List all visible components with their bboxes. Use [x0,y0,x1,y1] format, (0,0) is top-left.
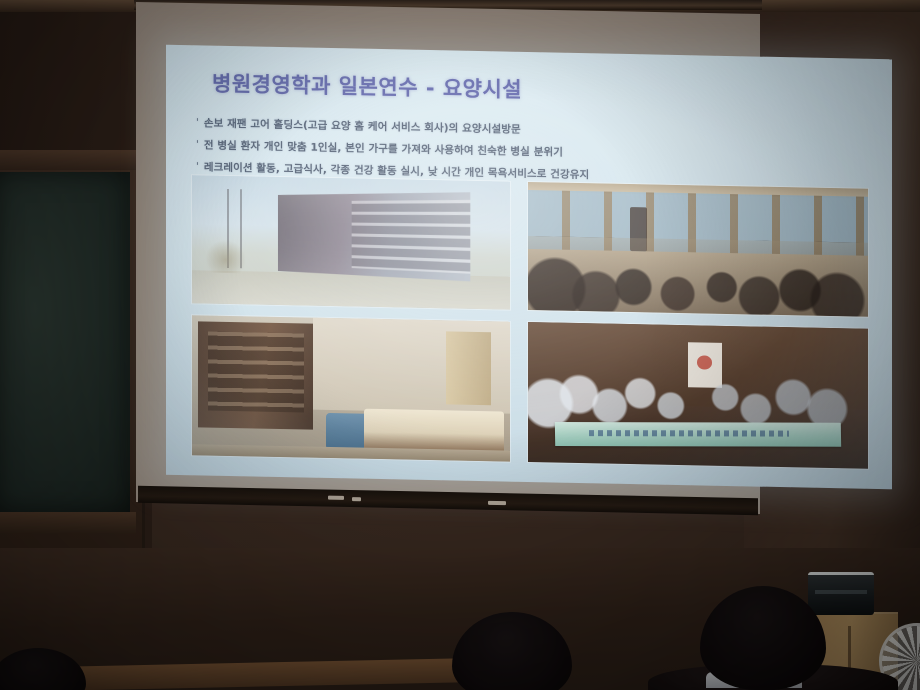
photo-building-exterior [192,175,510,309]
bullet-text: 전 병실 환자 개인 맞춤 1인실, 본인 가구를 가져와 사용하여 친숙한 병… [204,140,563,159]
chalk-piece [352,497,361,501]
chalk-piece [328,496,344,500]
seated-crowd [528,236,868,317]
chalkboard-surface [0,172,130,512]
photo-patient-room [192,315,510,461]
chalkboard-ledge [0,512,136,534]
chalkboard-top-rail [0,150,136,170]
slide-photo-grid [192,175,868,469]
lecture-hall-photo: 병원경영학과 일본연수 - 요양시설 ' 손보 재팬 고어 홀딩스(고급 요양 … [0,0,920,690]
photo-dining-hall [528,182,868,317]
patient-bed [364,408,504,453]
projection-screen: 병원경영학과 일본연수 - 요양시설 ' 손보 재팬 고어 홀딩스(고급 요양 … [128,0,768,540]
slide-bullet-2: ' 전 병실 환자 개인 맞춤 1인실, 본인 가구를 가져와 사용하여 친숙한… [196,139,856,164]
bullet-marker: ' [196,161,199,172]
wooden-shelf [198,321,312,430]
chalk-piece [488,501,506,505]
chalkboard [0,150,145,550]
bullet-marker: ' [196,117,199,128]
slide-bullet-1: ' 손보 재팬 고어 홀딩스(고급 요양 홈 케어 서비스 회사)의 요양시설방… [196,117,856,142]
tree [205,240,246,274]
bullet-marker: ' [196,139,199,150]
building-block [278,193,471,282]
window-curtain [446,332,491,406]
projected-slide: 병원경영학과 일본연수 - 요양시설 ' 손보 재팬 고어 홀딩스(고급 요양 … [166,45,892,490]
slide-content: 병원경영학과 일본연수 - 요양시설 ' 손보 재팬 고어 홀딩스(고급 요양 … [166,45,892,490]
commemorative-banner [555,422,841,447]
monitor-device [808,572,874,615]
slide-title: 병원경영학과 일본연수 - 요양시설 [212,68,522,104]
bullet-text: 손보 재팬 고어 홀딩스(고급 요양 홈 케어 서비스 회사)의 요양시설방문 [204,117,521,135]
photo-group-banner [528,322,868,469]
